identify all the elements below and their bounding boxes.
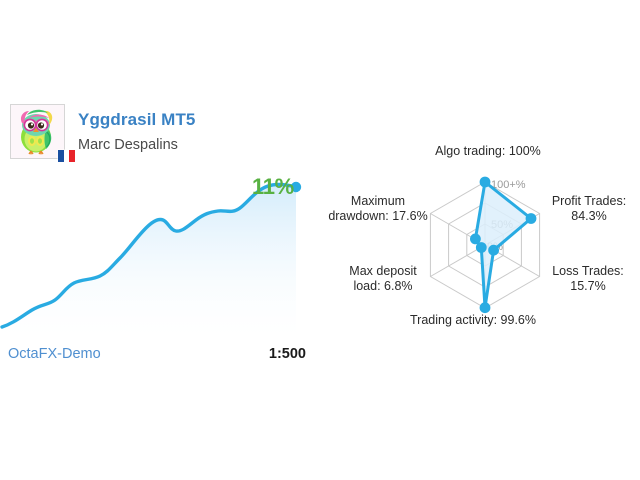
radar-point-profit-trades — [526, 213, 537, 224]
radar-label-maximum-drawdown: Maximum drawdown: 17.6% — [322, 194, 434, 224]
account-footer: OctaFX-Demo 1:500 — [0, 346, 310, 368]
radar-chart: 100+% 50% 0% — [320, 98, 640, 373]
account-header: Yggdrasil MT5 Marc Despalins — [10, 104, 310, 166]
leverage-value: 1:500 — [269, 346, 306, 362]
owl-avatar-icon — [11, 105, 64, 158]
radar-label-profit-trades: Profit Trades: 84.3% — [538, 194, 640, 224]
radar-point-maximum-drawdown — [470, 234, 481, 245]
radar-point-algo-trading — [480, 177, 491, 188]
radar-label-max-deposit-load: Max deposit load: 6.8% — [332, 264, 434, 294]
radar-label-loss-trades: Loss Trades: 15.7% — [538, 264, 638, 294]
radar-label-trading-activity: Trading activity: 99.6% — [368, 313, 578, 328]
account-title[interactable]: Yggdrasil MT5 — [78, 110, 196, 130]
radar-point-loss-trades — [488, 245, 499, 256]
signal-widget: Yggdrasil MT5 Marc Despalins 11 — [0, 0, 640, 480]
trading-stats-panel: 100+% 50% 0% Algo trading: 100% Pro — [320, 98, 640, 373]
radar-chart-svg: 100+% 50% 0% — [320, 98, 640, 373]
radar-label-algo-trading: Algo trading: 100% — [408, 144, 568, 159]
avatar[interactable] — [10, 104, 65, 159]
flag-france-icon — [58, 150, 75, 162]
account-owner-name: Marc Despalins — [78, 137, 178, 153]
growth-percentage: 11% — [252, 174, 294, 200]
radar-point-trading-activity — [480, 302, 491, 313]
account-summary-panel: Yggdrasil MT5 Marc Despalins 11 — [0, 98, 320, 373]
growth-area-fill — [2, 184, 296, 338]
broker-name[interactable]: OctaFX-Demo — [8, 346, 101, 362]
